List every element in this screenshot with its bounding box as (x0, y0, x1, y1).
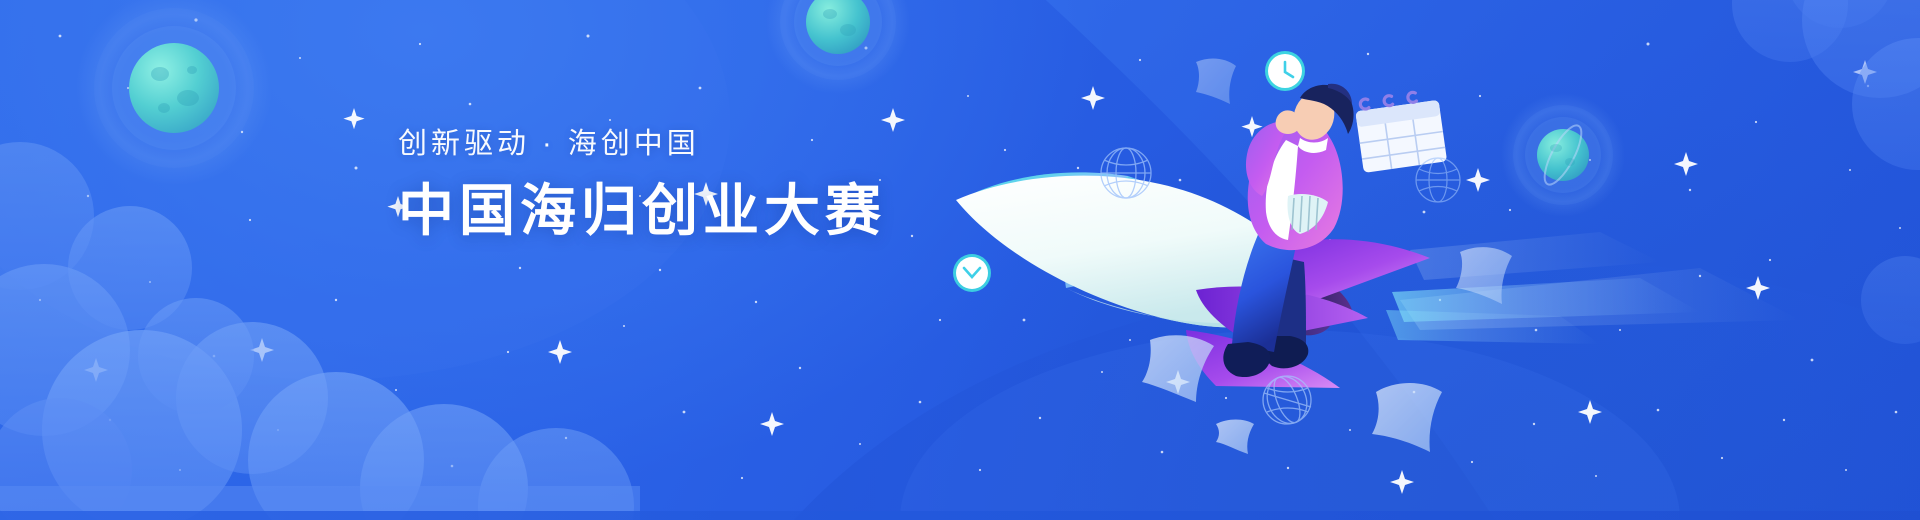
banner-text-block: 创新驱动 · 海创中国 中国海归创业大赛 (398, 130, 886, 241)
floating-paper-sheet (1216, 420, 1254, 455)
promotional-banner: 创新驱动 · 海创中国 中国海归创业大赛 (0, 0, 1920, 520)
clock-icon-secondary (953, 254, 991, 292)
floating-paper-sheet (1372, 383, 1442, 452)
rocket-exhaust-trail (1386, 232, 1800, 344)
floating-paper-sheet (1196, 59, 1236, 104)
bottom-accent-strip (0, 511, 1920, 520)
clock-icon (1265, 51, 1305, 91)
banner-title: 中国海归创业大赛 (398, 181, 886, 241)
illustration-svg (0, 0, 1920, 520)
banner-subtitle: 创新驱动 · 海创中国 (398, 130, 886, 159)
rocket-launch-illustration (0, 0, 1920, 520)
calendar-icon (1354, 89, 1447, 173)
globe-wireframe-icon-right (1416, 158, 1460, 202)
